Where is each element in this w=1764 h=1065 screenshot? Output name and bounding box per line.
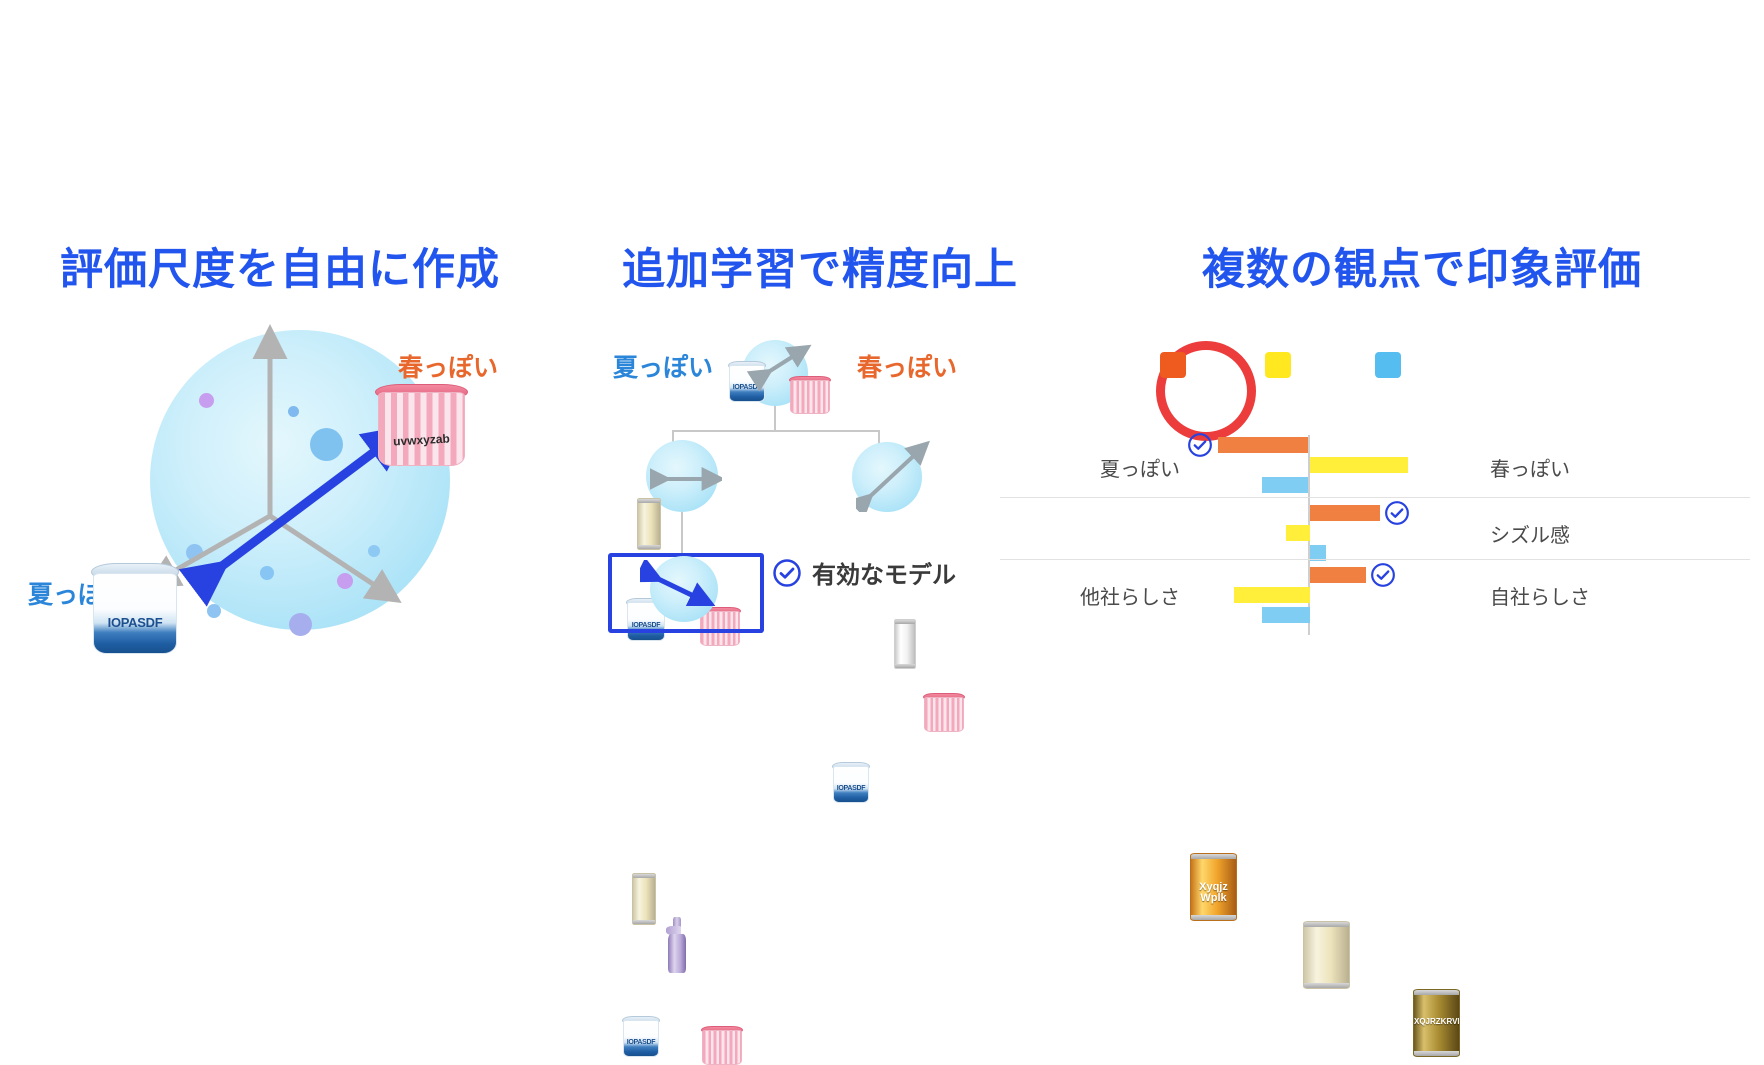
panel-title-additional-learning: 追加学習で精度向上 [560,235,1080,297]
bar-gold-can [1262,607,1310,623]
tree-connector [681,512,683,556]
check-circle-icon [1370,562,1396,588]
tree-connector [774,406,776,431]
impression-bar-chart: 夏っぽい 春っぽい シズル感 他社らしさ [1090,435,1710,635]
panel-title-free-scale: 評価尺度を自由に作成 [0,235,560,297]
check-circle-icon [1187,432,1213,458]
legend-can-gold: XQJRZKRVN [1413,989,1460,1057]
chart-row: シズル感 [1090,497,1710,559]
legend-swatch-orange [1160,352,1186,378]
product-label-pink: uvwxyzab [379,430,465,448]
panel-additional-learning: 追加学習で精度向上 [560,0,1080,986]
child-right-arrow [856,440,936,512]
cup-body: uvwxyzab [378,392,465,466]
product-pink-cup: uvwxyzab [378,386,463,464]
valid-model-label: 有効なモデル [812,555,956,590]
chart-row: 夏っぽい 春っぽい [1090,435,1710,497]
root-arrow [742,340,822,400]
panel-free-scale: 評価尺度を自由に作成 春っぽい [0,0,560,986]
legend-can-gold-label: XQJRZKRVN [1414,1018,1459,1026]
check-circle-icon [772,558,802,588]
row-label-right: 自社らしさ [1490,581,1590,610]
axis-label-spring: 春っぽい [398,348,498,384]
child-left-arrow [650,466,722,492]
cup-body: IOPASDF [93,573,177,654]
legend-can-orange: XyqjzWplk [1190,853,1237,921]
row-label-right: 春っぽい [1490,453,1570,482]
row-label-left: 夏っぽい [1010,453,1180,482]
leaf-can [632,873,656,925]
bar-gold-can [1262,477,1308,493]
infographic-slide: 評価尺度を自由に作成 春っぽい [0,0,1764,986]
child-right-blue-cup: IOPASDF [833,763,867,801]
legend-can-orange-label: XyqjzWplk [1191,882,1236,905]
row-label-right: シズル感 [1490,519,1570,548]
tree-connector [672,430,880,432]
bar-orange-can [1310,505,1380,521]
product-blue-cup: IOPASDF [93,566,175,652]
bar-cream-can [1234,587,1310,603]
leaf-pink-cup [702,1027,740,1063]
legend-swatch-yellow [1265,352,1291,378]
bar-cream-can [1286,525,1310,541]
leaf-bottle [664,917,690,973]
leaf-blue-cup: IOPASDF [623,1017,657,1055]
child-left-can [637,498,661,550]
tree-label-spring: 春っぽい [857,348,957,384]
bar-orange-can [1218,437,1308,453]
child-right-can [894,619,916,669]
panel-title-multi-view: 複数の観点で印象評価 [1080,235,1764,297]
check-circle-icon [1384,500,1410,526]
bar-cream-can [1310,457,1408,473]
bar-orange-can [1310,567,1366,583]
leaf-arrow [640,560,716,606]
legend-swatch-blue [1375,352,1401,378]
child-right-pink-cup [924,694,962,730]
legend-can-cream [1303,921,1350,989]
row-label-left: 他社らしさ [1010,581,1180,610]
valid-model-annotation: 有効なモデル [772,555,956,590]
tree-label-summer: 夏っぽい [613,348,713,384]
chart-row: 他社らしさ 自社らしさ [1090,559,1710,621]
product-label-blue: IOPASDF [94,615,176,630]
